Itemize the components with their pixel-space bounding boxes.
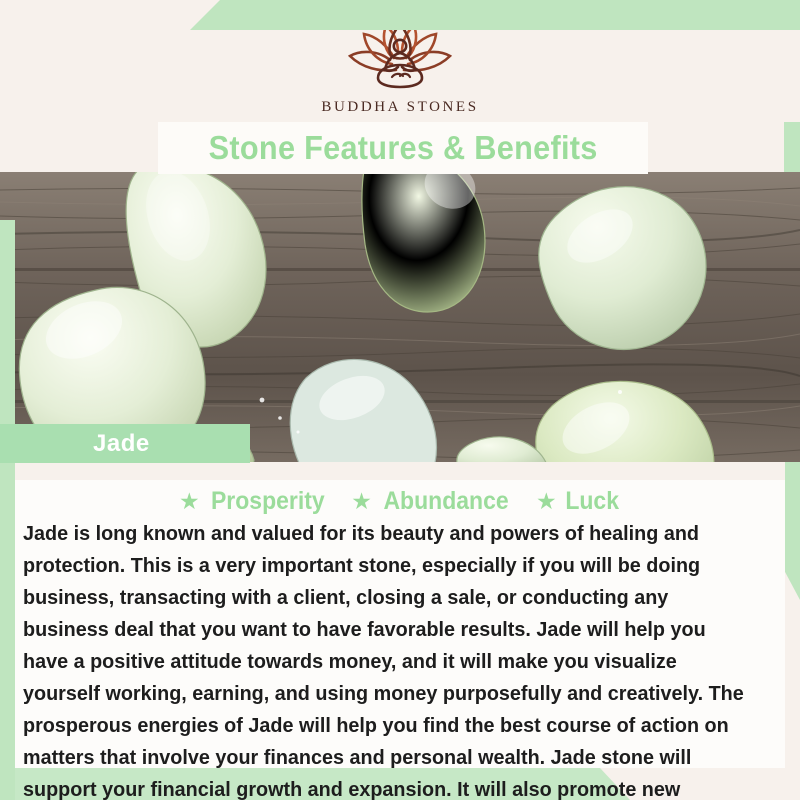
stone-info-poster: BUDDHA STONES Stone Features & Benefits — [0, 0, 800, 800]
content-panel: ★ Prosperity ★ Abundance ★ Luck Jade is … — [15, 462, 785, 768]
page-title: Stone Features & Benefits — [208, 129, 597, 167]
benefit-item: ★ Abundance — [351, 487, 514, 516]
lotus-meditation-icon — [338, 22, 462, 95]
benefit-label: Luck — [565, 487, 619, 516]
star-icon: ★ — [351, 490, 372, 513]
stone-photo-illustration — [0, 172, 800, 462]
stone-name-banner: Jade — [0, 424, 250, 463]
benefits-row: ★ Prosperity ★ Abundance ★ Luck — [15, 480, 785, 514]
title-banner: Stone Features & Benefits — [158, 122, 648, 174]
stone-name: Jade — [93, 430, 150, 458]
star-icon: ★ — [536, 490, 557, 513]
benefit-label: Prosperity — [211, 487, 325, 516]
brand-name: BUDDHA STONES — [321, 99, 478, 116]
benefit-label: Abundance — [383, 487, 508, 516]
benefit-item: ★ Luck — [536, 487, 621, 516]
decorative-frame-left — [0, 220, 15, 800]
stone-description: Jade is long known and valued for its be… — [23, 518, 749, 800]
brand-logo: BUDDHA STONES — [321, 22, 478, 116]
content-inner: ★ Prosperity ★ Abundance ★ Luck Jade is … — [15, 480, 785, 768]
stone-photo — [0, 172, 800, 462]
star-icon: ★ — [179, 490, 200, 513]
benefit-item: ★ Prosperity — [179, 487, 329, 516]
